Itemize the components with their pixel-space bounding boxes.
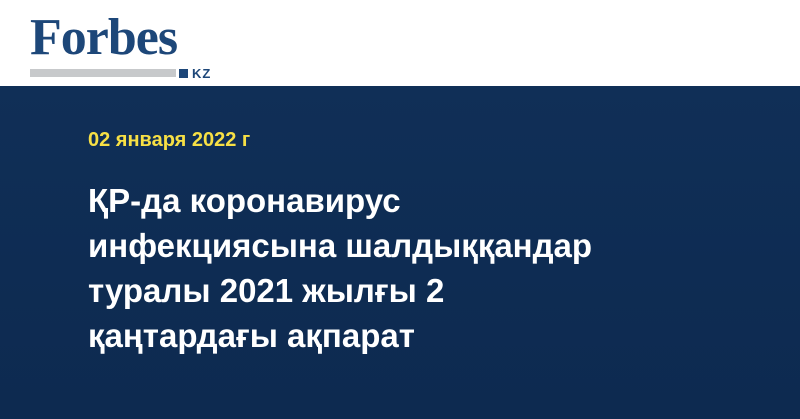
article-body-panel: 02 января 2022 г ҚР-да коронавирус инфек… [0, 86, 800, 419]
headline-line: ҚР-да коронавирус [88, 178, 688, 223]
headline-line: туралы 2021 жылғы 2 [88, 268, 688, 313]
headline-line: қаңтардағы ақпарат [88, 313, 688, 358]
article-headline[interactable]: ҚР-да коронавирус инфекциясына шалдыққан… [88, 178, 688, 358]
article-card: Forbes KZ 02 января 2022 г ҚР-да коронав… [0, 0, 800, 419]
forbes-wordmark: Forbes [30, 12, 177, 64]
forbes-kz-logo[interactable]: Forbes KZ [30, 12, 250, 76]
publication-date: 02 января 2022 г [88, 129, 250, 151]
headline-line: инфекциясына шалдыққандар [88, 223, 688, 268]
site-header: Forbes KZ [0, 0, 800, 86]
logo-rule-divider [30, 69, 176, 77]
logo-kz-suffix: KZ [192, 67, 211, 80]
logo-square-icon [179, 69, 188, 78]
